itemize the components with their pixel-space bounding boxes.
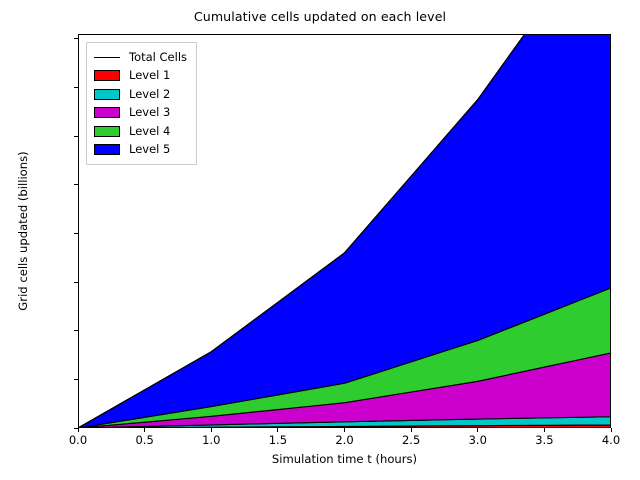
x-tick-mark [411,428,412,432]
x-axis-label: Simulation time t (hours) [78,452,611,466]
x-tick-mark [344,428,345,432]
x-tick-mark [78,428,79,432]
x-tick-mark [544,428,545,432]
x-tick-mark [144,428,145,432]
x-tick-label: 0.5 [135,433,153,447]
chart-title: Cumulative cells updated on each level [0,9,640,24]
y-axis-label: Grid cells updated (billions) [16,34,30,428]
x-tick-mark [611,428,612,432]
legend-color-swatch [94,126,120,137]
x-tick-mark [477,428,478,432]
y-axis-label-wrapper: Grid cells updated (billions) [0,0,1,1]
legend-color-swatch [94,107,120,118]
legend-item-label: Level 2 [129,89,170,101]
chart-legend[interactable]: Total CellsLevel 1Level 2Level 3Level 4L… [86,42,197,165]
legend-item-label: Level 4 [129,126,170,138]
legend-item-label: Level 5 [129,144,170,156]
legend-item-total-cells[interactable]: Total Cells [94,48,187,67]
x-tick-mark [211,428,212,432]
legend-item-label: Total Cells [129,52,187,64]
legend-item-level-2[interactable]: Level 2 [94,85,187,104]
legend-item-level-3[interactable]: Level 3 [94,104,187,123]
legend-line-marker [94,52,120,63]
legend-item-label: Level 3 [129,107,170,119]
x-tick-label: 3.0 [469,433,487,447]
legend-color-swatch [94,70,120,81]
x-tick-mark [277,428,278,432]
x-tick-label: 2.5 [402,433,420,447]
x-tick-label: 1.0 [202,433,220,447]
x-tick-label: 0.0 [69,433,87,447]
legend-item-level-5[interactable]: Level 5 [94,141,187,160]
chart-figure: Cumulative cells updated on each level G… [0,0,640,480]
x-tick-label: 2.0 [335,433,353,447]
legend-item-label: Level 1 [129,70,170,82]
legend-item-level-1[interactable]: Level 1 [94,67,187,86]
x-tick-label: 1.5 [269,433,287,447]
legend-color-swatch [94,144,120,155]
legend-color-swatch [94,89,120,100]
x-tick-label: 3.5 [535,433,553,447]
legend-item-level-4[interactable]: Level 4 [94,122,187,141]
x-tick-label: 4.0 [602,433,620,447]
